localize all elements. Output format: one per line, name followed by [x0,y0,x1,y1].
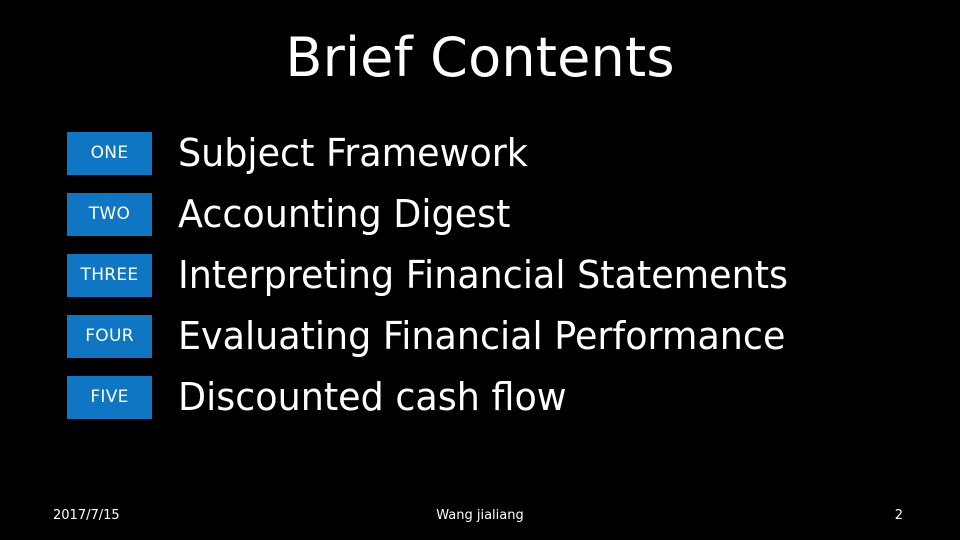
contents-item-label-one: Subject Framework [178,132,528,175]
badge-five[interactable]: FIVE [67,376,152,419]
badge-five-label: FIVE [67,376,152,419]
list-item[interactable]: ONE Subject Framework [0,132,960,175]
badge-three-label: THREE [67,254,152,297]
slide-footer: 2017/7/15 Wang jialiang 2 [0,504,960,528]
badge-two-label: TWO [67,193,152,236]
contents-item-label-five: Discounted cash flow [178,376,567,419]
list-item[interactable]: TWO Accounting Digest [0,193,960,236]
list-item[interactable]: FIVE Discounted cash flow [0,376,960,419]
badge-two[interactable]: TWO [67,193,152,236]
contents-list: ONE Subject Framework TWO Accounting Dig… [0,0,960,540]
contents-item-label-three: Interpreting Financial Statements [178,254,788,297]
badge-one[interactable]: ONE [67,132,152,175]
badge-four[interactable]: FOUR [67,315,152,358]
badge-three[interactable]: THREE [67,254,152,297]
contents-item-label-four: Evaluating Financial Performance [178,315,785,358]
contents-item-label-two: Accounting Digest [178,193,510,236]
footer-page-number: 2 [0,504,960,528]
badge-four-label: FOUR [67,315,152,358]
list-item[interactable]: FOUR Evaluating Financial Performance [0,315,960,358]
list-item[interactable]: THREE Interpreting Financial Statements [0,254,960,297]
badge-one-label: ONE [67,132,152,175]
slide-canvas: Brief Contents ONE Subject Framework TWO… [0,0,960,540]
